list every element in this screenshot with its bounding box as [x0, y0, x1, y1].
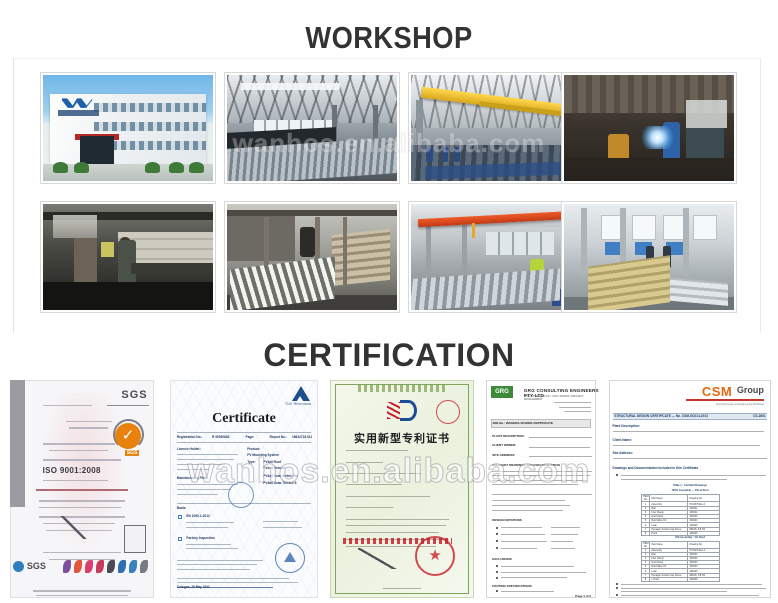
type-value-1: PV4all Roof — [263, 460, 281, 464]
grg-job-title: JOB No.: WANHOS-VICMOD-CERTIFICATE — [492, 421, 553, 425]
workshop-photo-7[interactable] — [408, 201, 584, 313]
report-no-value: 15642718.011 — [292, 435, 312, 439]
tuv-logo-text: TUV Rheinland — [285, 402, 311, 406]
basis-item-2: Factory Inspection — [186, 536, 214, 540]
certificate-tuv-rheinland[interactable]: TUV Rheinland Certificate Registration N… — [164, 375, 324, 603]
certification-gallery-row: SGS SGS ISO 9001:2008 — [0, 375, 778, 603]
manufacturing-plant-label: Manufacturing Plant: — [177, 476, 209, 480]
certificate-heading: Certificate — [164, 411, 324, 427]
patent-signature — [358, 548, 399, 569]
machining-station-photo — [43, 204, 213, 310]
grg-plant-description-label: PLANT DESCRIPTION: — [492, 434, 524, 438]
certificate-grg-engineering[interactable]: GRG CONSULTING ENGINEERS PTY LTD STRUCTU… — [480, 375, 602, 603]
page-title-certification: CERTIFICATION — [0, 337, 778, 374]
csm-site-label: Site Address: — [613, 451, 633, 455]
csm-table2-caption: 100 Assembly : On Roof — [641, 536, 740, 539]
licence-holder-label: Licence Holder: — [177, 447, 201, 451]
ukas-mark-icon — [124, 525, 146, 553]
workshop-gallery-panel — [13, 58, 761, 332]
sandwich-panel-storage-photo — [564, 204, 734, 310]
csm-table-2: ITEM No.Part NameDrawing No. 1AssemblyHX… — [641, 541, 721, 583]
csm-client-label: Client Name: — [613, 438, 632, 442]
grg-client-owner-label: CLIENT OWNER: — [492, 443, 516, 447]
certificate-sgs-iso-9001[interactable]: SGS SGS ISO 9001:2008 — [0, 375, 164, 603]
workshop-photo-6[interactable] — [224, 201, 400, 313]
csm-logo-text: CSM — [702, 384, 732, 399]
iso-standard-label: ISO 9001:2008 — [43, 466, 101, 475]
sgs-footer-logos: SGS — [13, 560, 151, 581]
factory-exterior-photo — [43, 75, 213, 181]
registration-no-value: R 50050883 — [212, 435, 229, 439]
grg-site-address-label: SITE ADDRESS: — [492, 453, 515, 457]
csm-drawings-label: Drawings and Documentation included in t… — [613, 466, 699, 470]
workshop-photo-5[interactable] — [40, 201, 216, 313]
product-label: Product: — [247, 447, 260, 451]
csm-plant-description-label: Plant Description: — [613, 424, 640, 428]
check-badge-icon — [115, 423, 141, 449]
csm-logo-sub: Structural Design and Engineering Worldw… — [716, 403, 764, 406]
grg-section-4: FOOTING SPECIFICATIONS — [492, 584, 531, 588]
workshop-photo-8[interactable] — [561, 201, 737, 313]
product-value: PV Mounting System — [247, 453, 279, 457]
workshop-photo-2[interactable] — [224, 72, 400, 184]
workshop-photo-row-1 — [14, 72, 762, 192]
certificate-csm-structural-design[interactable]: CSM Group Structural Design and Engineer… — [602, 375, 778, 603]
profiled-sheet-stacks-photo — [227, 204, 397, 310]
registration-no-label: Registration No.: — [177, 435, 203, 439]
csm-group-text: Group — [737, 385, 764, 395]
patent-official-seal-icon — [415, 536, 455, 576]
type-value-4: PV4all Solar Terrace II — [263, 481, 296, 485]
report-no-label: Report No.: — [270, 435, 287, 439]
tuv-stamp-icon — [275, 543, 305, 573]
csm-table1-caption: Table 1 : Certified Drawings — [641, 484, 740, 487]
grg-section-1: RELEVANT DRAWINGS AND DOCUMENTATION — [492, 463, 560, 467]
type-value-2: PV4all Ground — [263, 466, 285, 470]
globe-icon — [13, 561, 24, 572]
csm-job-no: CS-2601 — [753, 414, 766, 418]
type-value-3: PV4all Solar Metric Pro — [263, 474, 298, 478]
patent-heading: 实用新型专利证书 — [324, 430, 480, 446]
page-root: WORKSHOP — [0, 0, 778, 603]
csm-table1-subcaption: 100% Assembly — Tilt at Roof — [641, 489, 740, 492]
workshop-photo-4[interactable] — [561, 72, 737, 184]
overhead-crane-red-photo — [411, 204, 581, 310]
patent-emblem-icon — [387, 400, 417, 422]
basis-item-1: EN 1090-1:2012 — [186, 514, 209, 518]
workshop-photo-3[interactable] — [408, 72, 584, 184]
workshop-photo-1[interactable] — [40, 72, 216, 184]
grg-logo-icon — [491, 386, 513, 398]
page-label: Page: — [246, 435, 255, 439]
grg-section-2: DESIGN NOTATIONS — [492, 518, 522, 522]
production-hall-trusses-photo — [227, 75, 397, 181]
certificate-cn-utility-model-patent[interactable]: 实用新型专利证书 — [324, 375, 480, 603]
page-title-workshop: WORKSHOP — [47, 20, 732, 56]
workshop-photo-row-2 — [14, 201, 762, 321]
grg-section-3: EXCLUSIONS — [492, 557, 512, 561]
welding-station-photo — [564, 75, 734, 181]
signature — [56, 516, 92, 539]
csm-table-1: ITEM No.Part NameDrawing No. 1AssemblyHX… — [641, 494, 721, 536]
csm-title-band: STRUCTURAL DESIGN CERTIFICATE — No. CSM-… — [614, 414, 708, 418]
patent-seal-top-icon — [436, 400, 460, 424]
basis-label: Basis: — [177, 506, 187, 510]
sgs-logo-text: SGS — [121, 389, 147, 401]
grg-page-number: Page 1 of 2 — [575, 594, 591, 598]
grg-company-sub: STRUCTURAL / CIVIL / CIVIC WORKS / PROJE… — [524, 395, 602, 401]
tuv-round-mark-icon — [228, 482, 254, 508]
overhead-crane-yellow-photo — [411, 75, 581, 181]
type-label: Type: — [247, 460, 255, 464]
issue-date: Cologne, 28 May 2011 — [177, 585, 210, 589]
